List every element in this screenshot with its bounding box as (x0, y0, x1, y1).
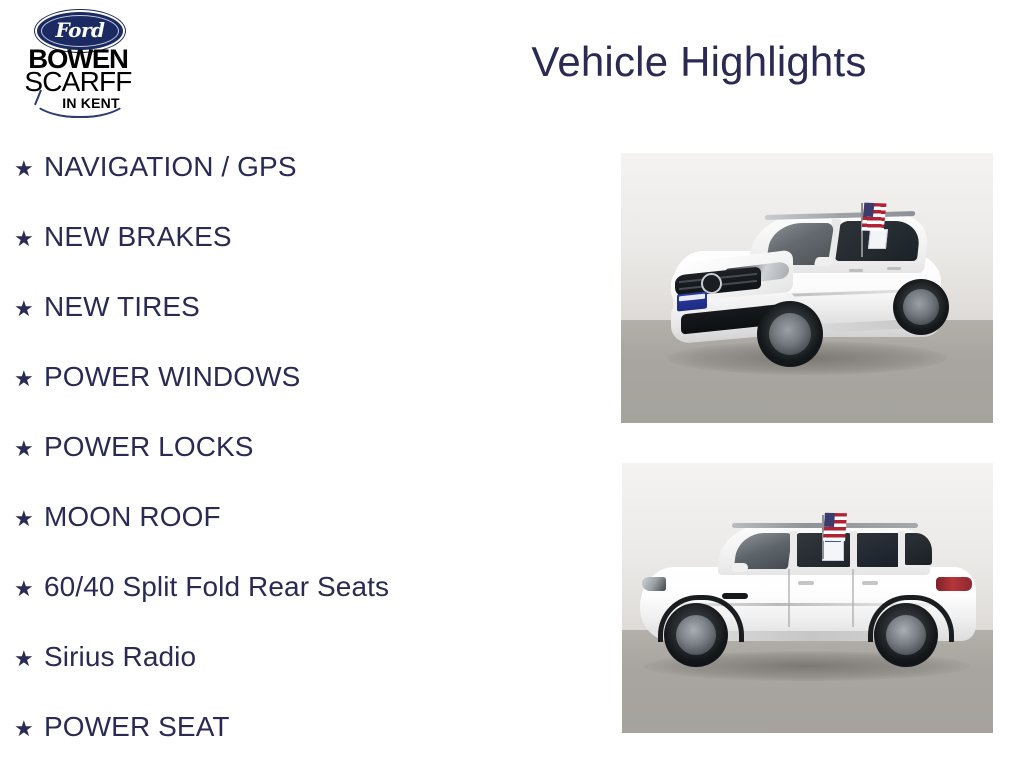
car-b-pillar (790, 531, 797, 569)
vehicle-photo-side-profile[interactable] (622, 463, 993, 733)
page-title: Vehicle Highlights (420, 38, 1024, 86)
list-item-label: 60/40 Split Fold Rear Seats (44, 566, 389, 608)
car-door-handle (849, 269, 863, 272)
list-item: ★ NEW BRAKES (10, 216, 610, 286)
star-icon: ★ (10, 288, 44, 330)
star-icon: ★ (10, 358, 44, 400)
star-icon: ★ (10, 708, 44, 750)
list-item: ★ MOON ROOF (10, 496, 610, 566)
list-item-label: Sirius Radio (44, 636, 196, 678)
list-item-label: NEW BRAKES (44, 216, 232, 258)
car-door-seam (852, 569, 854, 627)
car-side-mirror (732, 563, 748, 572)
car-d-pillar (898, 531, 905, 567)
list-item-label: POWER LOCKS (44, 426, 254, 468)
list-item: ★ POWER WINDOWS (10, 356, 610, 426)
dealer-name-line-2: SCARFF (8, 68, 148, 96)
flag-canton (824, 513, 835, 527)
star-icon: ★ (10, 428, 44, 470)
list-item-label: MOON ROOF (44, 496, 221, 538)
list-item-label: POWER SEAT (44, 706, 230, 748)
list-item-label: POWER WINDOWS (44, 356, 300, 398)
car-door-handle (887, 267, 901, 270)
license-plate-header (679, 294, 705, 302)
star-icon: ★ (10, 148, 44, 190)
vehicle-photo-front-three-quarter[interactable] (621, 153, 993, 423)
car-rear-rim (886, 615, 926, 655)
vehicle-illustration (636, 511, 980, 689)
car-door-handle (798, 581, 814, 585)
vehicle-highlights-list: ★ NAVIGATION / GPS ★ NEW BRAKES ★ NEW TI… (10, 146, 610, 776)
ford-wordmark: Ford (56, 20, 105, 42)
list-item: ★ Sirius Radio (10, 636, 610, 706)
car-door-seam (788, 569, 790, 627)
vehicle-illustration (665, 205, 955, 380)
dealer-license-plate (677, 291, 707, 311)
car-taillight (936, 577, 972, 591)
car-rear-rim (903, 289, 939, 325)
star-icon: ★ (10, 218, 44, 260)
american-flag-icon (823, 513, 847, 541)
car-headlight (642, 577, 666, 591)
car-rear-quarter-window (904, 533, 932, 565)
list-item: ★ POWER SEAT (10, 706, 610, 776)
car-side-mirror (814, 257, 834, 266)
american-flag-icon (862, 203, 887, 232)
window-sticker (868, 229, 888, 249)
dealer-logo: Ford BOWEN SCARFF IN KENT (8, 4, 148, 118)
list-item: ★ NEW TIRES (10, 286, 610, 356)
star-icon: ★ (10, 638, 44, 680)
list-item: ★ 60/40 Split Fold Rear Seats (10, 566, 610, 636)
car-c-pillar (850, 531, 857, 569)
star-icon: ★ (10, 568, 44, 610)
car-door-handle (862, 581, 878, 585)
car-front-rim (769, 313, 811, 355)
star-icon: ★ (10, 498, 44, 540)
list-item-label: NAVIGATION / GPS (44, 146, 297, 188)
dealer-location-line: IN KENT (8, 96, 148, 110)
list-item: ★ POWER LOCKS (10, 426, 610, 496)
car-quarter-window (856, 533, 900, 567)
car-front-rim (676, 615, 716, 655)
list-item-label: NEW TIRES (44, 286, 200, 328)
flag-canton (863, 203, 874, 217)
list-item: ★ NAVIGATION / GPS (10, 146, 610, 216)
car-fender-vent (722, 593, 748, 599)
